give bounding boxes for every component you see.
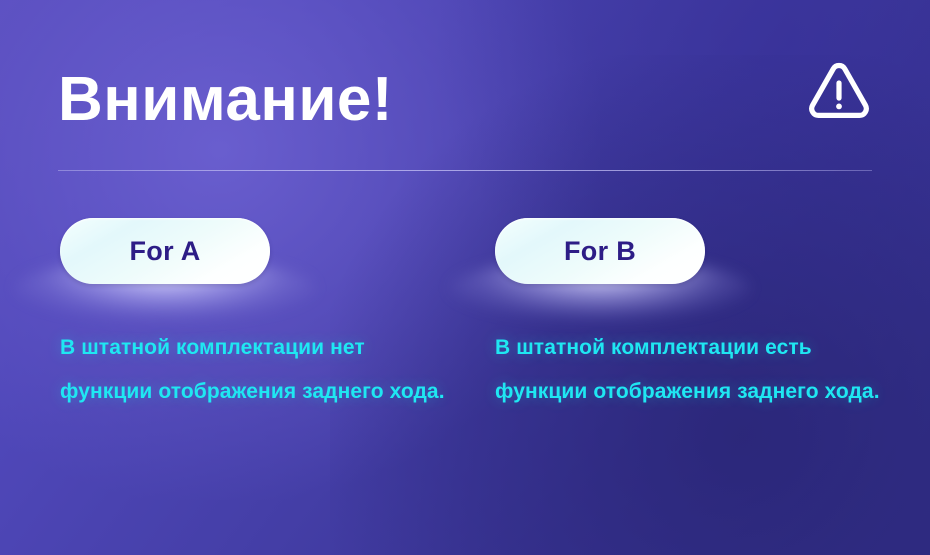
columns-container: For A В штатной комплектации нет функции… (0, 218, 930, 518)
slide-canvas: Внимание! For A В штатной комплектации н… (0, 0, 930, 555)
for-a-description: В штатной комплектации нет функции отобр… (60, 326, 452, 414)
for-a-button[interactable]: For A (60, 218, 270, 284)
pill-wrapper-for-b: For B (495, 218, 705, 284)
page-title: Внимание! (58, 52, 393, 148)
for-b-button[interactable]: For B (495, 218, 705, 284)
header-divider (58, 170, 872, 171)
header: Внимание! (58, 52, 872, 148)
column-for-a: For A В штатной комплектации нет функции… (60, 218, 460, 284)
for-b-description: В штатной комплектации есть функции отоб… (495, 326, 887, 414)
pill-wrapper-for-a: For A (60, 218, 270, 284)
column-for-b: For B В штатной комплектации есть функци… (495, 218, 895, 284)
warning-triangle-icon (808, 60, 870, 120)
